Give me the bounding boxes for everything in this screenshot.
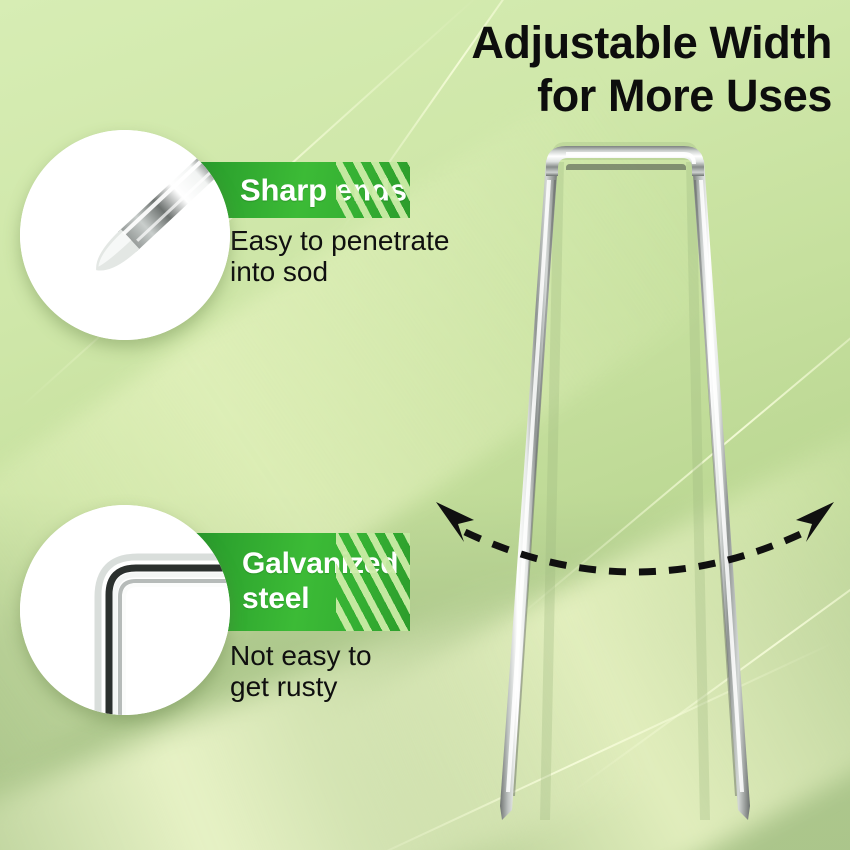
page-title: Adjustable Width for More Uses (312, 16, 832, 122)
banner-diagonal-stripes-icon (336, 533, 410, 631)
page-title-line-1: Adjustable Width (312, 16, 832, 69)
staple-crossbar (546, 146, 704, 176)
spread-arc-dashed (465, 532, 805, 572)
spread-arrow-head-right (796, 502, 834, 542)
feature-description: Easy to penetrate into sod (230, 225, 520, 288)
feature-photo-sharp-tip (20, 130, 230, 340)
banner-diagonal-stripes-icon (336, 162, 410, 218)
page-title-line-2: for More Uses (312, 69, 832, 122)
feature-photo-steel-bend (20, 505, 230, 715)
product-infographic-poster: Adjustable Width for More Uses (0, 0, 850, 850)
feature-description: Not easy to get rusty (230, 640, 520, 703)
adjustable-spread-arrow (420, 480, 850, 610)
